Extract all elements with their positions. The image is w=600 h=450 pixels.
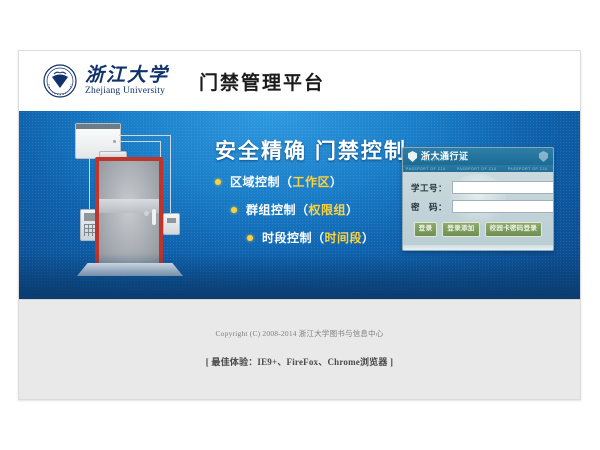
- bullet-dot-icon: [247, 235, 253, 241]
- strip-text: PASSPORT OF ZJU: [406, 167, 446, 171]
- password-row: 密 码：: [411, 200, 545, 213]
- feature-highlight: 时间段: [325, 229, 363, 246]
- login-form: 学工号： 密 码： 登录 登录添加 校园卡密码登录: [403, 172, 553, 245]
- hero-banner: 安全精确 门禁控制 区域控制（工作区） 群组控制（权限组） 时段控制（时间段） …: [19, 111, 580, 299]
- university-logo[interactable]: 浙江大学 Zhejiang University: [43, 64, 169, 98]
- login-panel: 浙大通行证 PASSPORT OF ZJU PASSPORT OF ZJU PA…: [402, 147, 554, 251]
- brand-chinese: 浙江大学: [85, 66, 169, 85]
- page-title: 门禁管理平台: [199, 68, 325, 95]
- feature-tail: ）: [346, 201, 359, 218]
- bullet-dot-icon: [215, 179, 221, 185]
- strip-text: PASSPORT OF ZJU: [457, 167, 497, 171]
- feature-item-group-control: 群组控制（权限组）: [231, 201, 405, 218]
- feature-label: 区域控制（: [230, 173, 293, 190]
- login-button[interactable]: 登录: [414, 222, 438, 237]
- brand-english: Zhejiang University: [85, 87, 169, 97]
- wire: [89, 157, 90, 209]
- card-password-login-button[interactable]: 校园卡密码登录: [485, 222, 543, 237]
- feature-tail: ）: [362, 229, 375, 246]
- password-label: 密 码：: [411, 201, 447, 213]
- zju-seal-icon: [43, 64, 77, 98]
- brand-text: 浙江大学 Zhejiang University: [85, 66, 169, 97]
- password-input[interactable]: [452, 200, 554, 213]
- bullet-dot-icon: [231, 207, 237, 213]
- door-icon: [95, 157, 163, 265]
- site-footer: Copyright (C) 2008-2014 浙江大学图书与信息中心 [ 最佳…: [19, 299, 580, 399]
- username-row: 学工号：: [411, 181, 545, 194]
- card-reader-icon: [163, 213, 180, 235]
- wire: [119, 141, 161, 142]
- feature-label: 群组控制（: [246, 201, 309, 218]
- feature-item-time-control: 时段控制（时间段）: [247, 229, 405, 246]
- feature-list: 区域控制（工作区） 群组控制（权限组） 时段控制（时间段）: [215, 173, 405, 257]
- wire: [170, 135, 171, 219]
- shield-watermark-icon: [539, 151, 548, 162]
- feature-highlight: 工作区: [293, 173, 331, 190]
- browser-compat-text: [ 最佳体验：IE9+、FireFox、Chrome浏览器 ]: [19, 355, 580, 368]
- wire: [119, 135, 171, 136]
- feature-tail: ）: [330, 173, 343, 190]
- feature-highlight: 权限组: [309, 201, 347, 218]
- login-panel-footer: [403, 245, 553, 250]
- copyright-text: Copyright (C) 2008-2014 浙江大学图书与信息中心: [19, 328, 580, 339]
- feature-item-area-control: 区域控制（工作区）: [215, 173, 405, 190]
- strip-text: PASSPORT OF ZJU: [508, 167, 548, 171]
- site-header: 浙江大学 Zhejiang University 门禁管理平台: [19, 51, 580, 111]
- shield-icon: [408, 151, 417, 162]
- banner-bottom-shade: [19, 253, 580, 299]
- feature-label: 时段控制（: [262, 229, 325, 246]
- login-add-button[interactable]: 登录添加: [442, 222, 479, 237]
- username-input[interactable]: [452, 181, 554, 194]
- login-panel-subtitle: PASSPORT OF ZJU: [421, 158, 469, 162]
- banner-headline: 安全精确 门禁控制: [215, 135, 407, 165]
- login-actions: 登录 登录添加 校园卡密码登录: [411, 222, 545, 237]
- page-container: 浙江大学 Zhejiang University 门禁管理平台: [18, 50, 581, 400]
- passport-strip: PASSPORT OF ZJU PASSPORT OF ZJU PASSPORT…: [403, 165, 553, 172]
- login-panel-header: 浙大通行证 PASSPORT OF ZJU: [403, 148, 553, 165]
- username-label: 学工号：: [411, 182, 447, 194]
